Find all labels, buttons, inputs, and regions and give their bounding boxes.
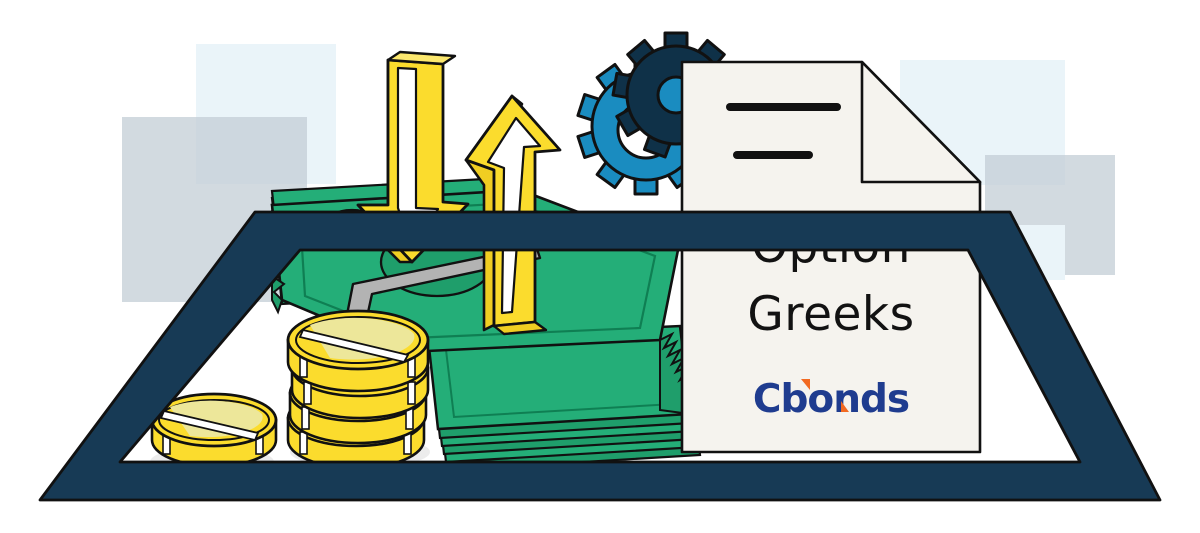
document-title-line-2: Greeks — [747, 287, 914, 342]
scene-svg: Option Greeks Cbonds — [0, 0, 1200, 533]
coin-stack-item-top — [288, 311, 428, 391]
illustration-canvas: Option Greeks Cbonds — [0, 0, 1200, 533]
coin-stack — [288, 311, 430, 468]
cbonds-logo-text: Cbonds — [753, 377, 909, 422]
doc-text-line-2 — [733, 151, 813, 159]
cbonds-logo: Cbonds — [753, 377, 909, 422]
doc-text-line-1 — [726, 103, 841, 111]
